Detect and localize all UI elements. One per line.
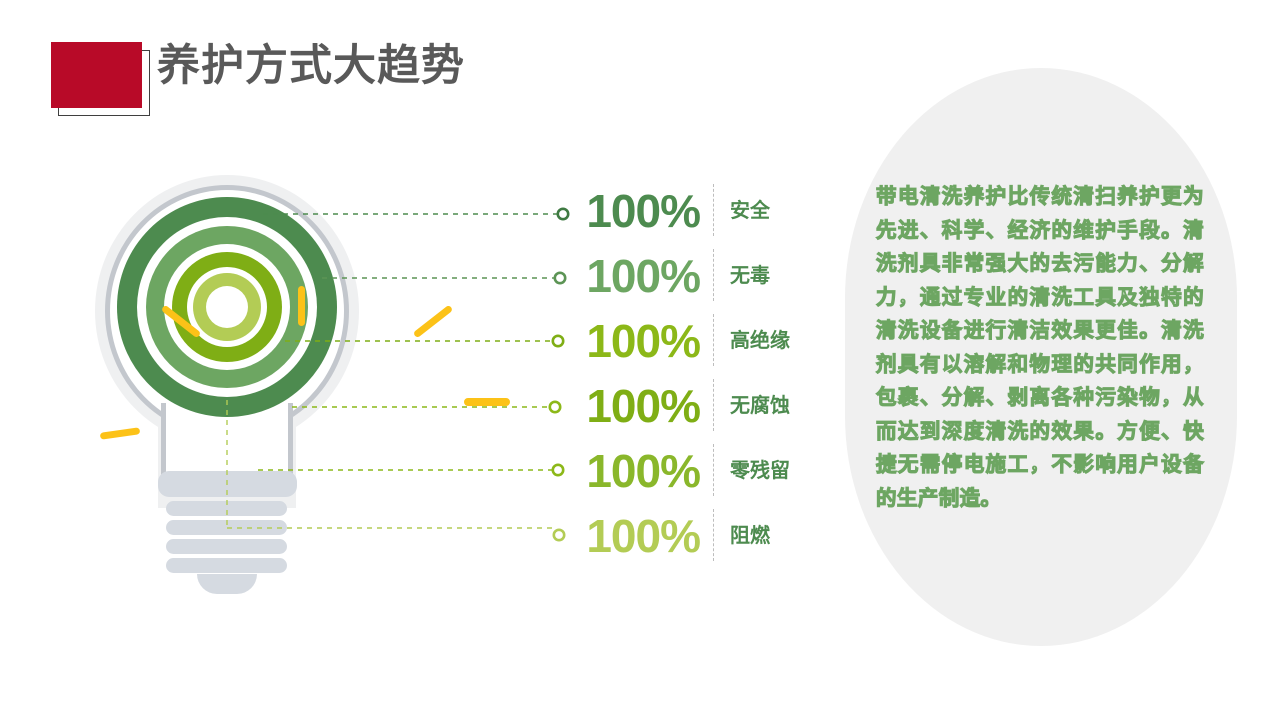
stat-divider xyxy=(713,379,714,431)
stat-label: 高绝缘 xyxy=(730,328,790,354)
stat-value: 100% xyxy=(586,185,700,237)
bulb-base-collar xyxy=(158,471,297,497)
stat-label: 零残留 xyxy=(730,458,790,484)
header-accent-square xyxy=(51,42,142,108)
stat-label: 安全 xyxy=(730,198,770,224)
stat-row[interactable]: 100% 阻燃 xyxy=(560,503,820,568)
stat-value: 100% xyxy=(586,315,700,367)
stat-label: 无腐蚀 xyxy=(730,393,790,419)
light-ray-right-icon xyxy=(464,398,510,406)
stat-row[interactable]: 100% 高绝缘 xyxy=(560,308,820,373)
bulb-base-thread-3 xyxy=(166,539,287,554)
page-title: 养护方式大趋势 xyxy=(157,38,465,94)
bulb-base-thread-1 xyxy=(166,501,287,516)
stat-value: 100% xyxy=(586,445,700,497)
stat-row[interactable]: 100% 零残留 xyxy=(560,438,820,503)
light-ray-left-icon xyxy=(100,427,141,439)
stat-row[interactable]: 100% 无毒 xyxy=(560,243,820,308)
stat-label: 无毒 xyxy=(730,263,770,289)
stat-value: 100% xyxy=(586,510,700,562)
stat-divider xyxy=(713,509,714,561)
stat-divider xyxy=(713,444,714,496)
stat-value: 100% xyxy=(586,380,700,432)
light-ray-top-icon xyxy=(298,286,305,326)
stat-divider xyxy=(713,249,714,301)
stat-row[interactable]: 100% 无腐蚀 xyxy=(560,373,820,438)
stats-list: 100% 安全 100% 无毒 100% 高绝缘 100% 无腐蚀 100% 零… xyxy=(560,178,820,568)
bulb-base-contact xyxy=(197,574,257,594)
stat-row[interactable]: 100% 安全 xyxy=(560,178,820,243)
stat-label: 阻燃 xyxy=(730,523,770,549)
description-text: 带电清洗养护比传统清扫养护更为先进、科学、经济的维护手段。清洗剂具非常强大的去污… xyxy=(876,180,1204,515)
bulb-base-thread-2 xyxy=(166,520,287,535)
stat-divider xyxy=(713,184,714,236)
bulb-base-thread-4 xyxy=(166,558,287,573)
slide-canvas: 养护方式大趋势 xyxy=(0,0,1283,721)
target-ring-center xyxy=(206,286,248,328)
stat-divider xyxy=(713,314,714,366)
lightbulb-graphic xyxy=(72,168,402,578)
stat-value: 100% xyxy=(586,250,700,302)
light-ray-upper-right-icon xyxy=(413,305,454,339)
